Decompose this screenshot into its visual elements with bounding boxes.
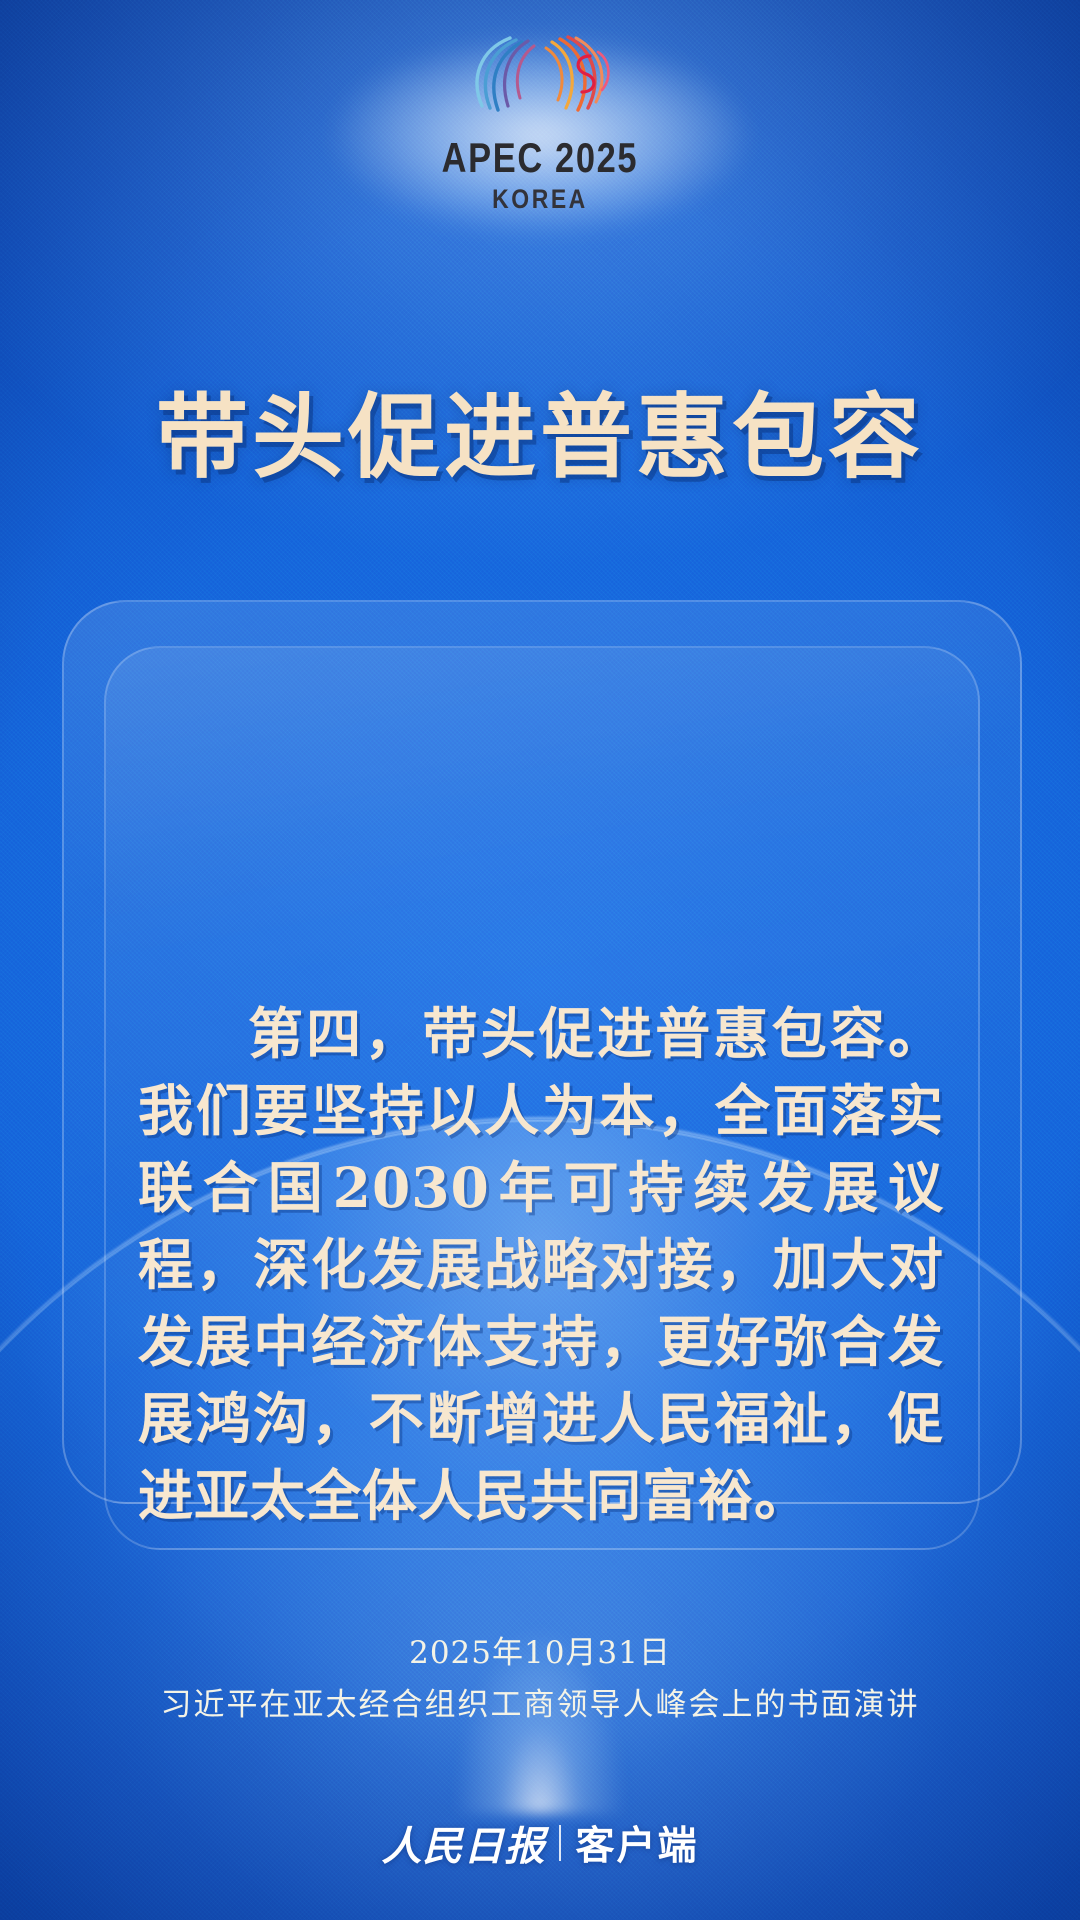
speech-source: 习近平在亚太经合组织工商领导人峰会上的书面演讲 [0,1681,1080,1729]
apec-emblem-icon [450,26,630,136]
peoples-daily-brand: 人民日报 [381,1814,545,1872]
apec-title: APEC 2025 [442,137,639,179]
page-title: 带头促进普惠包容 [0,388,1080,487]
apec-logo-wordmark: APEC 2025 KOREA [0,137,1080,213]
quote-body-text: 第四，带头促进普惠包容。我们要坚持以人为本，全面落实联合国2030年可持续发展议… [138,995,944,1534]
footer-brand-logo[interactable]: 人民日报 客户端 [0,1814,1080,1872]
caption-block: 2025年10月31日 习近平在亚太经合组织工商领导人峰会上的书面演讲 [0,1630,1080,1729]
apec-subtitle: KOREA [81,186,999,213]
speech-date: 2025年10月31日 [0,1630,1080,1677]
app-name-label: 客户端 [575,1815,698,1871]
poster-canvas: APEC 2025 KOREA 带头促进普惠包容 第四，带头促进普惠包容。我们要… [0,0,1080,1920]
apec-logo-block: APEC 2025 KOREA [0,26,1080,206]
brand-divider [559,1825,561,1861]
